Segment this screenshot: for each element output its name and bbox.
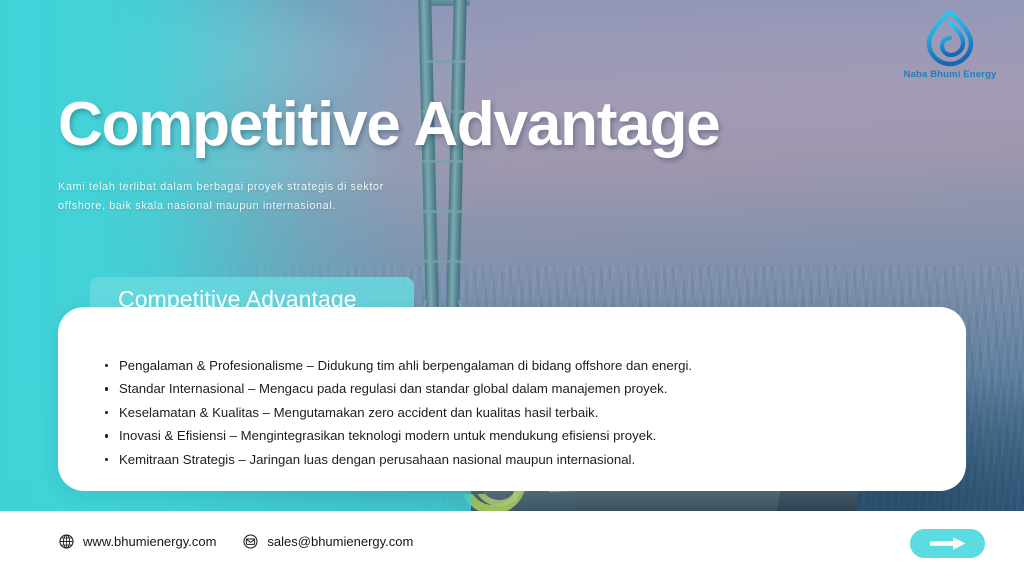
list-item: Kemitraan Strategis – Jaringan luas deng… [105,448,936,471]
globe-icon [58,533,75,550]
arrow-right-icon [928,535,968,552]
brand-name: Naba Bhumi Energy [894,69,1006,80]
page-subtitle: Kami telah terlibat dalam berbagai proye… [58,178,428,216]
website-contact[interactable]: www.bhumienergy.com [58,533,216,550]
brand-logo: Naba Bhumi Energy [894,10,1006,80]
leaf-drop-spiral-icon [925,10,975,68]
email-label: sales@bhumienergy.com [267,534,413,549]
content-card: Pengalaman & Profesionalisme – Didukung … [58,307,966,491]
slide-competitive-advantage: H [0,0,1024,576]
subtitle-line-1: Kami telah terlibat dalam berbagai proye… [58,181,384,193]
contact-group: www.bhumienergy.com sales@bhumienergy.co… [58,533,413,550]
email-contact[interactable]: sales@bhumienergy.com [242,533,413,550]
footer-bar: www.bhumienergy.com sales@bhumienergy.co… [0,511,1024,576]
list-item: Keselamatan & Kualitas – Mengutamakan ze… [105,401,936,424]
next-slide-button[interactable] [910,529,985,558]
list-item: Inovasi & Efisiensi – Mengintegrasikan t… [105,424,936,447]
hero-section: H [0,0,1024,511]
list-item: Pengalaman & Profesionalisme – Didukung … [105,354,936,377]
envelope-circle-icon [242,533,259,550]
advantage-list: Pengalaman & Profesionalisme – Didukung … [105,354,936,471]
page-title: Competitive Advantage [58,93,720,156]
list-item: Standar Internasional – Mengacu pada reg… [105,377,936,400]
website-label: www.bhumienergy.com [83,534,216,549]
subtitle-line-2: offshore, baik skala nasional maupun int… [58,197,428,216]
